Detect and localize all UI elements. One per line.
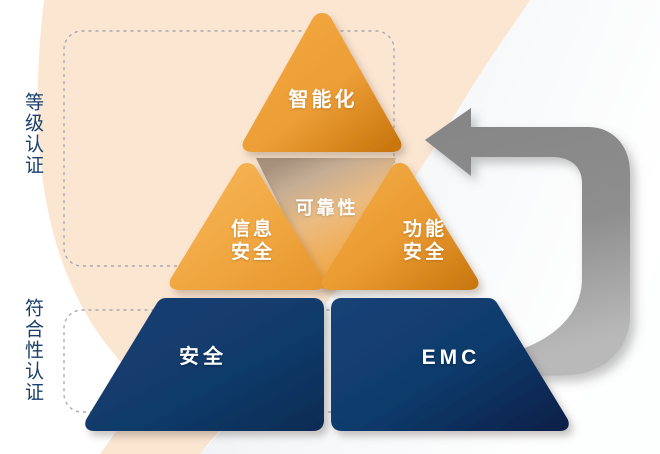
block-label-safety: 安全 [128, 345, 278, 369]
block-label-functional-safety: 功能 安全 [370, 218, 480, 264]
block-label-emc: EMC [370, 345, 532, 371]
block-label-intelligence: 智能化 [247, 88, 399, 112]
diagram-canvas: 等级认证 符合性认证 智能化 信息 安全 可靠性 功能 安全 安全 EMC [0, 0, 660, 454]
side-label-level-certification: 等级认证 [22, 92, 42, 176]
block-label-reliability: 可靠性 [264, 198, 390, 220]
block-label-information-security: 信息 安全 [198, 218, 308, 264]
pyramid-layer [0, 0, 660, 454]
side-label-conformity-certification: 符合性认证 [22, 298, 42, 403]
block-intelligence [243, 13, 402, 152]
